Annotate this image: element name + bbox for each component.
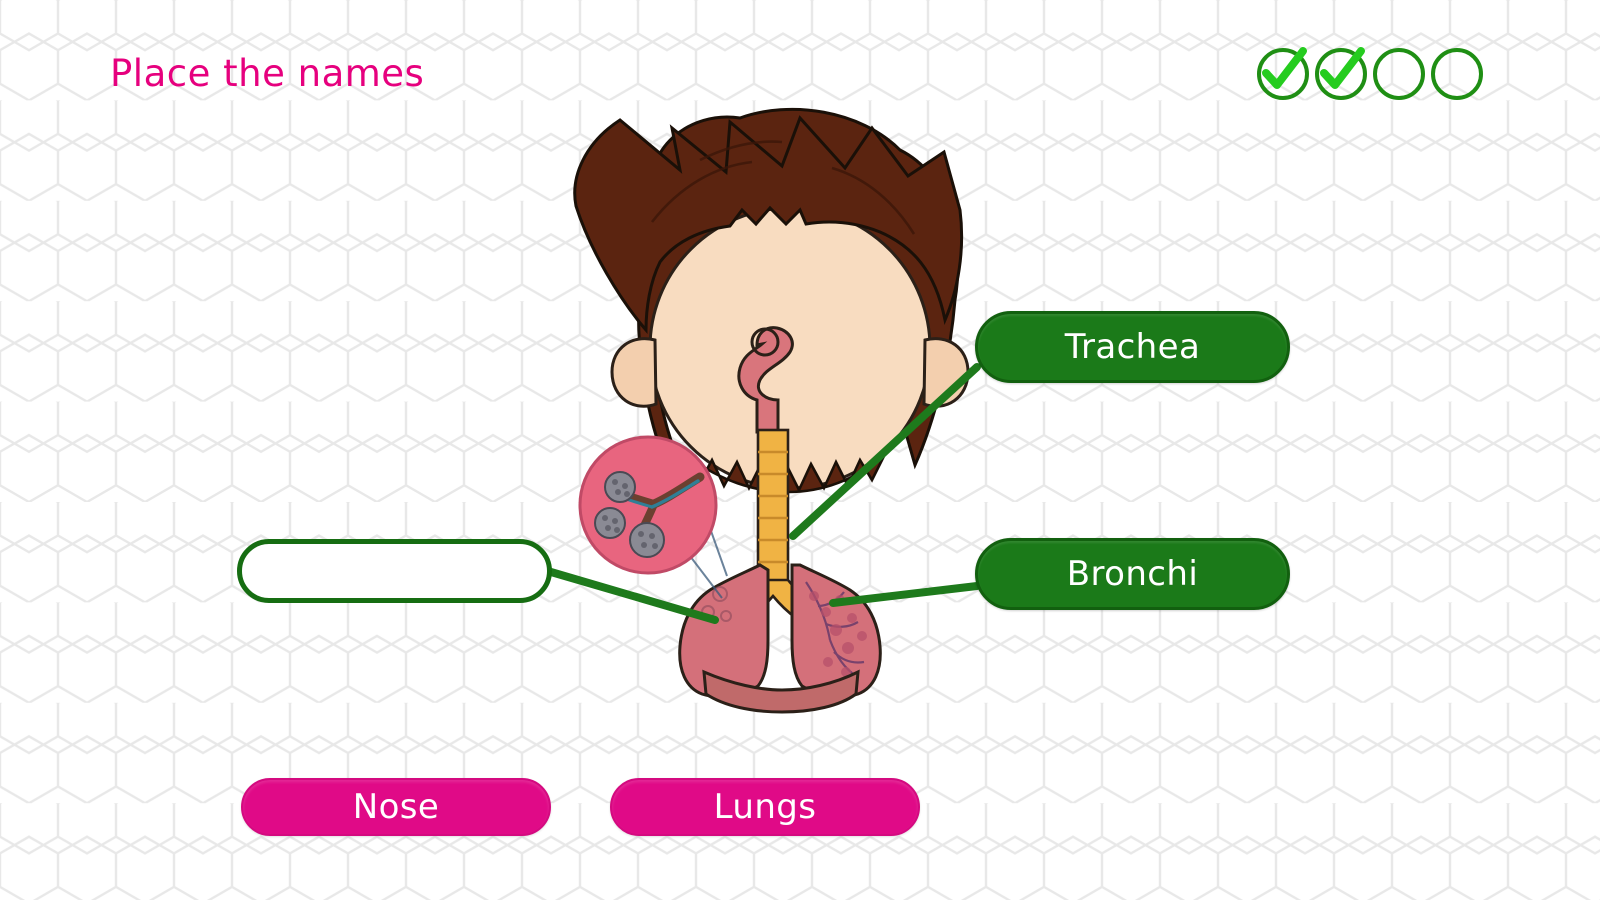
- label-pill-trachea[interactable]: Trachea: [975, 311, 1290, 383]
- answer-pill-lungs-text: Lungs: [714, 790, 817, 824]
- label-pill-bronchi-text: Bronchi: [1067, 557, 1198, 591]
- circle-icon: [1373, 48, 1425, 100]
- check-icon: [1255, 46, 1308, 99]
- honeycomb-background: [0, 0, 1600, 900]
- game-screen: Place the names: [0, 0, 1600, 900]
- label-pill-bronchi[interactable]: Bronchi: [975, 538, 1290, 610]
- answer-pill-nose-text: Nose: [353, 790, 439, 824]
- drop-slot-empty[interactable]: [237, 539, 552, 603]
- progress-slot-4: [1429, 46, 1482, 99]
- label-pill-trachea-text: Trachea: [1065, 330, 1200, 364]
- progress-slot-3: [1371, 46, 1424, 99]
- check-icon: [1313, 46, 1366, 99]
- progress-indicator: [1255, 46, 1482, 99]
- progress-slot-1: [1255, 46, 1308, 99]
- circle-icon: [1431, 48, 1483, 100]
- page-title: Place the names: [110, 52, 424, 95]
- progress-slot-2: [1313, 46, 1366, 99]
- answer-pill-lungs[interactable]: Lungs: [610, 778, 920, 836]
- answer-pill-nose[interactable]: Nose: [241, 778, 551, 836]
